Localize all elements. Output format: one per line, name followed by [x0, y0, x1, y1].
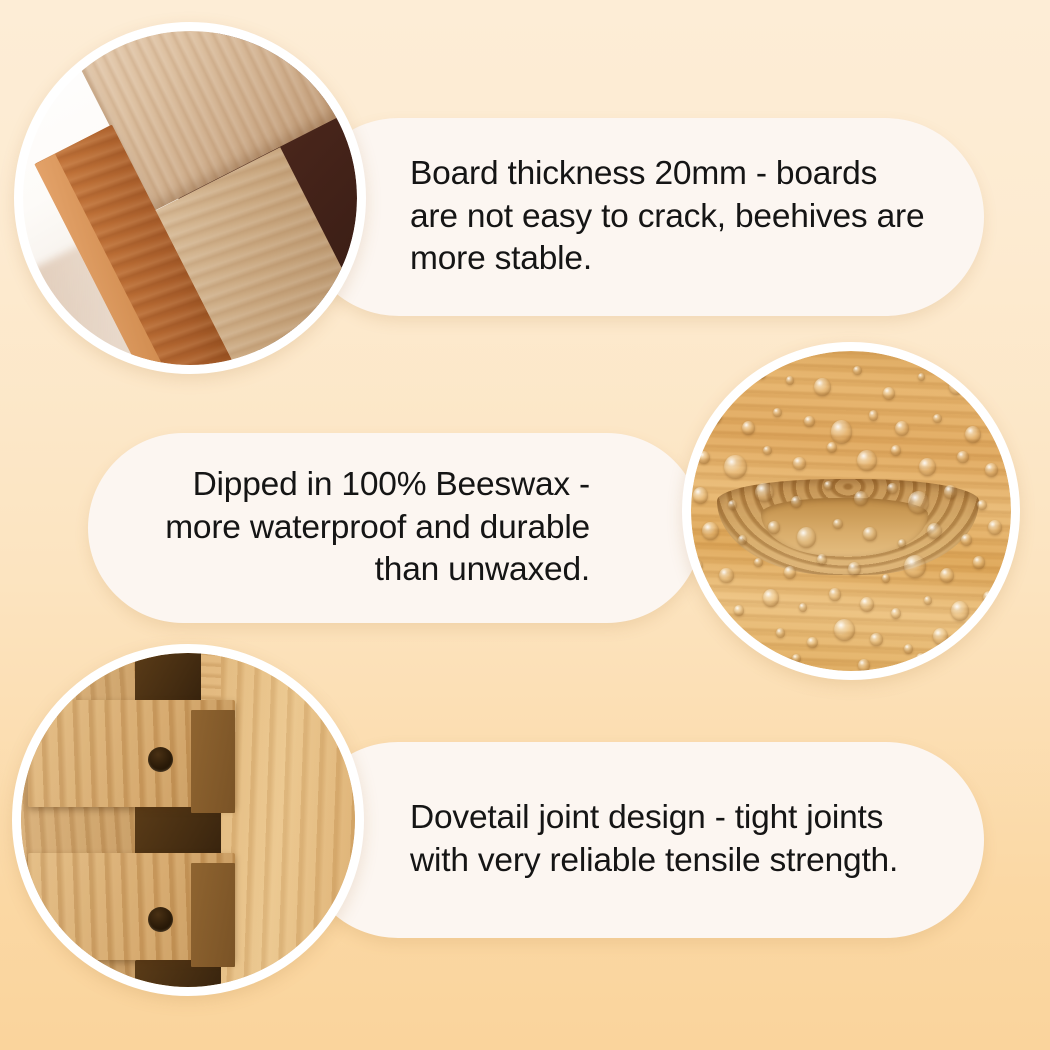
water-droplet [857, 450, 877, 471]
beehive-feature-infographic: Board thickness 20mm - boards are not ea… [0, 0, 1050, 1050]
water-droplet [807, 637, 817, 648]
water-droplet [784, 566, 796, 579]
photo3-drilled-hole-upper [148, 747, 173, 772]
water-droplet [831, 420, 853, 443]
water-droplet [698, 451, 710, 464]
water-droplet [725, 657, 735, 667]
feature-caption-text-dovetail: Dovetail joint design - tight joints wit… [410, 797, 932, 883]
water-droplet [754, 558, 763, 568]
water-droplet [792, 654, 800, 663]
dovetail-joint-photo [12, 644, 364, 996]
water-droplet [898, 539, 906, 548]
water-droplet [711, 630, 722, 642]
water-droplet [773, 408, 781, 417]
waxed-wood-water-droplets-photo [682, 342, 1020, 680]
water-droplet [891, 445, 901, 455]
water-droplet [940, 568, 954, 583]
water-droplet [961, 534, 972, 546]
water-droplet [848, 562, 861, 576]
beehive-box-corner-photo-inner [23, 31, 357, 365]
water-droplet [908, 491, 929, 514]
water-droplet [763, 589, 780, 607]
waxed-wood-photo-inner [691, 351, 1011, 671]
feature-caption-pill-beeswax: Dipped in 100% Beeswax - more waterproof… [88, 433, 702, 623]
water-droplet [883, 387, 895, 400]
water-droplet [956, 661, 969, 671]
water-droplet [983, 591, 995, 604]
water-droplet [944, 485, 957, 499]
water-droplet [895, 421, 909, 436]
water-droplet [860, 597, 874, 612]
beehive-box-corner-photo [14, 22, 366, 374]
water-droplet [977, 500, 987, 510]
water-droplet [957, 451, 969, 463]
water-droplet [973, 556, 985, 568]
water-droplet [927, 523, 942, 540]
water-droplet [723, 376, 736, 390]
photo3-right-panel [221, 653, 355, 987]
water-droplet [904, 555, 926, 578]
water-droplet [916, 653, 926, 664]
water-droplet [738, 535, 747, 545]
water-droplet [791, 496, 802, 508]
photo3-joint-finger-lower-endgrain [191, 863, 234, 967]
water-droplet [933, 414, 942, 424]
feature-caption-text-beeswax: Dipped in 100% Beeswax - more waterproof… [124, 464, 590, 593]
water-droplet [692, 560, 702, 571]
water-droplet [834, 619, 854, 641]
water-droplet [858, 659, 870, 671]
water-droplet [757, 369, 767, 379]
water-droplet [702, 522, 719, 540]
feature-caption-text-board-thickness: Board thickness 20mm - boards are not ea… [410, 153, 932, 282]
water-droplet [804, 416, 814, 427]
feature-caption-pill-dovetail: Dovetail joint design - tight joints wit… [300, 742, 984, 938]
water-droplet [827, 442, 837, 453]
water-droplet [985, 463, 998, 477]
feature-caption-pill-board-thickness: Board thickness 20mm - boards are not ea… [300, 118, 984, 316]
water-droplet [755, 483, 774, 503]
water-droplet [863, 527, 876, 541]
water-droplet [786, 376, 794, 385]
water-droplet [768, 521, 780, 533]
water-droplet [776, 628, 785, 638]
water-droplet [869, 410, 879, 420]
water-droplet [734, 605, 744, 615]
water-droplet [719, 568, 734, 584]
water-droplet [951, 601, 970, 621]
water-droplet [933, 628, 948, 645]
water-droplet [854, 491, 868, 506]
water-droplet [814, 378, 831, 396]
photo3-drilled-hole-lower [148, 907, 173, 932]
water-droplet [829, 588, 841, 600]
water-droplet [949, 379, 964, 395]
water-droplet [797, 527, 816, 548]
water-droplet [817, 554, 827, 564]
water-droplet [918, 373, 926, 381]
water-droplet [824, 481, 832, 490]
water-droplet [853, 366, 862, 376]
dovetail-joint-photo-inner [21, 653, 355, 987]
water-droplet [965, 426, 981, 443]
water-droplet [693, 487, 708, 504]
water-droplet [988, 520, 1002, 535]
photo3-joint-finger-upper-endgrain [191, 710, 234, 814]
